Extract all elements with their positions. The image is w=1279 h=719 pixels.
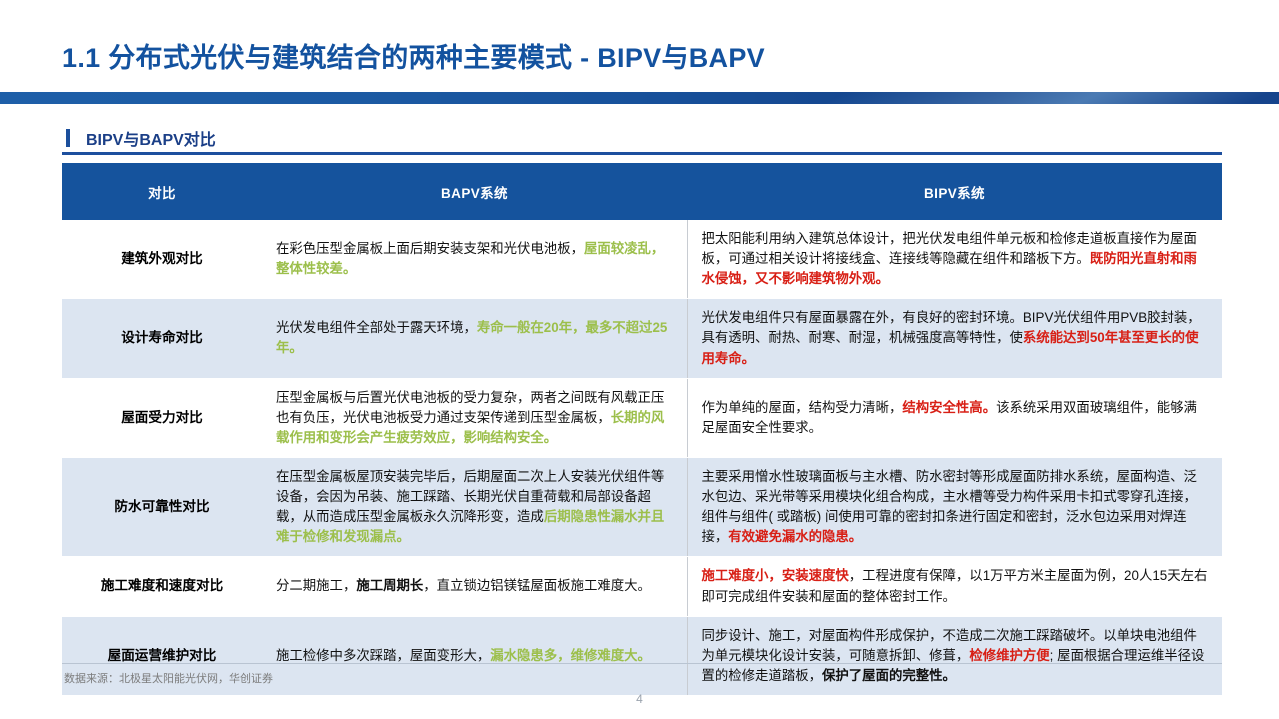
source-note: 数据来源：北极星太阳能光伏网，华创证券: [64, 670, 273, 686]
table-header-row: 对比 BAPV系统 BIPV系统: [62, 163, 1222, 220]
section-heading: BIPV与BAPV对比: [66, 126, 216, 150]
bapv-cell: 在压型金属板屋顶安装完毕后，后期屋面二次上人安装光伏组件等设备，会因为吊装、施工…: [262, 457, 687, 556]
bapv-cell: 光伏发电组件全部处于露天环境，寿命一般在20年，最多不超过25年。: [262, 299, 687, 378]
row-label-cell: 防水可靠性对比: [62, 457, 262, 556]
column-header-bipv: BIPV系统: [687, 163, 1222, 220]
table-row: 设计寿命对比光伏发电组件全部处于露天环境，寿命一般在20年，最多不超过25年。光…: [62, 299, 1222, 378]
row-label-cell: 设计寿命对比: [62, 299, 262, 378]
table-row: 施工难度和速度对比分二期施工，施工周期长，直立锁边铝镁锰屋面板施工难度大。施工难…: [62, 557, 1222, 616]
bapv-cell: 施工检修中多次踩踏，屋面变形大，漏水隐患多，维修难度大。: [262, 616, 687, 695]
column-header-bapv: BAPV系统: [262, 163, 687, 220]
bipv-cell: 同步设计、施工，对屋面构件形成保护，不造成二次施工踩踏破坏。以单块电池组件为单元…: [687, 616, 1222, 695]
section-divider: [62, 152, 1222, 155]
bipv-bapv-comparison-table: 对比 BAPV系统 BIPV系统 建筑外观对比在彩色压型金属板上面后期安装支架和…: [62, 163, 1222, 696]
bipv-cell: 施工难度小，安装速度快，工程进度有保障，以1万平方米主屋面为例，20人15天左右…: [687, 557, 1222, 616]
row-label-cell: 建筑外观对比: [62, 220, 262, 299]
bipv-cell: 作为单纯的屋面，结构受力清晰，结构安全性高。该系统采用双面玻璃组件，能够满足屋面…: [687, 378, 1222, 457]
table-row: 防水可靠性对比在压型金属板屋顶安装完毕后，后期屋面二次上人安装光伏组件等设备，会…: [62, 457, 1222, 556]
page-title: 1.1 分布式光伏与建筑结合的两种主要模式 - BIPV与BAPV: [62, 36, 765, 75]
bapv-cell: 分二期施工，施工周期长，直立锁边铝镁锰屋面板施工难度大。: [262, 557, 687, 616]
row-label-cell: 施工难度和速度对比: [62, 557, 262, 616]
title-accent-bar: [0, 92, 1279, 104]
bipv-cell: 主要采用憎水性玻璃面板与主水槽、防水密封等形成屋面防排水系统，屋面构造、泛水包边…: [687, 457, 1222, 556]
bapv-cell: 压型金属板与后置光伏电池板的受力复杂，两者之间既有风载正压也有负压，光伏电池板受…: [262, 378, 687, 457]
bipv-cell: 光伏发电组件只有屋面暴露在外，有良好的密封环境。BIPV光伏组件用PVB胶封装，…: [687, 299, 1222, 378]
table-row: 建筑外观对比在彩色压型金属板上面后期安装支架和光伏电池板，屋面较凌乱，整体性较差…: [62, 220, 1222, 299]
bipv-cell: 把太阳能利用纳入建筑总体设计，把光伏发电组件单元板和检修走道板直接作为屋面板，可…: [687, 220, 1222, 299]
table-header: 对比 BAPV系统 BIPV系统: [62, 163, 1222, 220]
title-bar-sheen: [814, 92, 1279, 104]
section-tick-icon: [66, 129, 70, 147]
section-heading-label: BIPV与BAPV对比: [86, 126, 216, 150]
row-label-cell: 屋面受力对比: [62, 378, 262, 457]
page-number: 4: [0, 692, 1279, 706]
footer-divider: [62, 663, 1222, 664]
column-header-criteria: 对比: [62, 163, 262, 220]
table-body: 建筑外观对比在彩色压型金属板上面后期安装支架和光伏电池板，屋面较凌乱，整体性较差…: [62, 220, 1222, 695]
bapv-cell: 在彩色压型金属板上面后期安装支架和光伏电池板，屋面较凌乱，整体性较差。: [262, 220, 687, 299]
table-row: 屋面受力对比压型金属板与后置光伏电池板的受力复杂，两者之间既有风载正压也有负压，…: [62, 378, 1222, 457]
